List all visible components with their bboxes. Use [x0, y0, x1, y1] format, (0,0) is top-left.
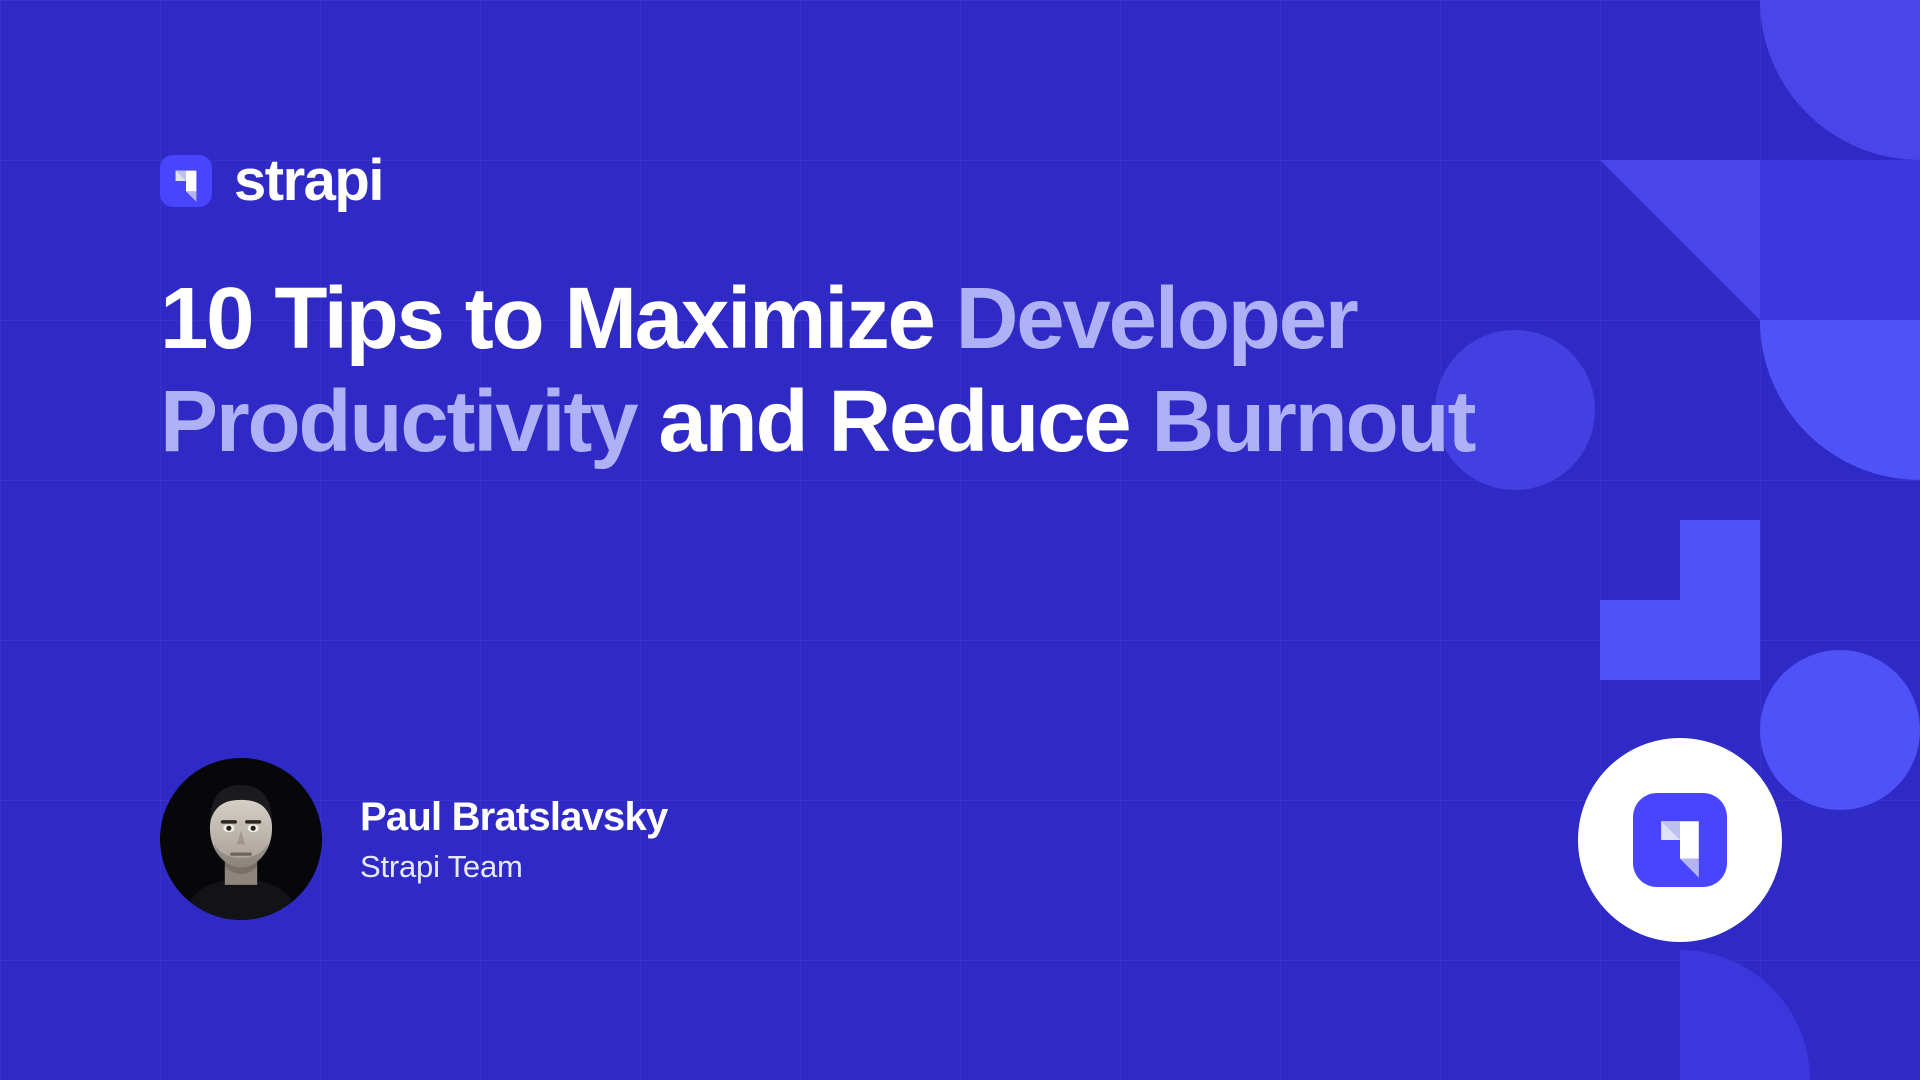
title-run: Burnout	[1151, 373, 1474, 470]
title-run: and Reduce	[658, 373, 1151, 470]
page-title: 10 Tips to Maximize DeveloperProductivit…	[160, 268, 1700, 473]
page-title-line2: Productivity and Reduce Burnout	[160, 371, 1700, 474]
author-name: Paul Bratslavsky	[360, 797, 667, 837]
strapi-logo-mark-icon	[160, 155, 212, 207]
quarter-circle-mid-right	[1760, 320, 1920, 480]
circle-bottom-right	[1760, 650, 1920, 810]
avatar	[160, 758, 322, 920]
brand-lockup: strapi	[160, 152, 383, 210]
strapi-badge	[1578, 738, 1782, 942]
social-card-canvas: strapi 10 Tips to Maximize DeveloperProd…	[0, 0, 1920, 1080]
quarter-circle-bottom-edge	[1680, 950, 1810, 1080]
strapi-logo-mark-icon	[1633, 793, 1727, 887]
author-block: Paul Bratslavsky Strapi Team	[160, 758, 667, 920]
author-text: Paul Bratslavsky Strapi Team	[360, 797, 667, 882]
square-accent-top-right	[1760, 160, 1920, 320]
step-shape-lower-right	[1600, 520, 1760, 680]
page-title-line1: 10 Tips to Maximize Developer	[160, 268, 1700, 371]
title-run: Productivity	[160, 373, 658, 470]
brand-wordmark: strapi	[234, 152, 383, 210]
author-role: Strapi Team	[360, 851, 667, 882]
title-run: Developer	[956, 270, 1357, 367]
title-run: 10 Tips to Maximize	[160, 270, 956, 367]
quarter-circle-top-right	[1760, 0, 1920, 160]
